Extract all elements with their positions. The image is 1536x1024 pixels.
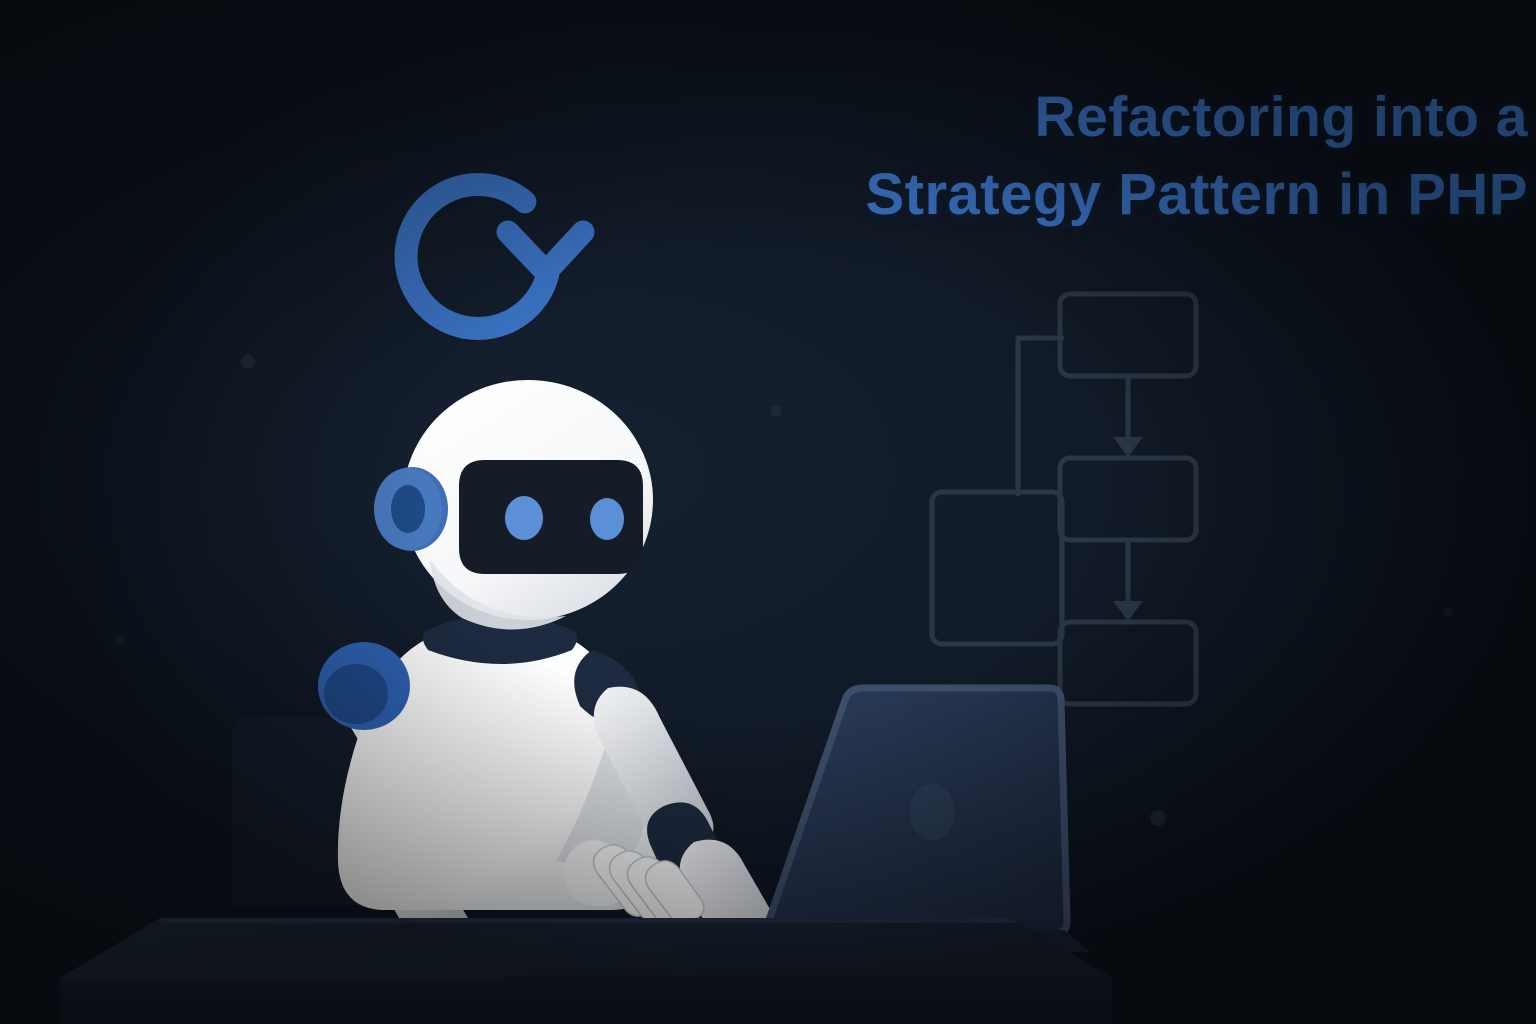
- flowchart-node: [1060, 458, 1196, 540]
- flowchart-side-connector-top: [1018, 338, 1062, 494]
- robot-ear-icon: [374, 467, 448, 551]
- laptop-lid-logo-icon: [910, 784, 954, 840]
- flowchart-arrow-head: [1113, 601, 1143, 621]
- robot-eye-left: [505, 496, 543, 540]
- robot-eye-right: [590, 498, 624, 540]
- desk-top: [60, 918, 1112, 978]
- poster-canvas: Refactoring into a Strategy Pattern in P…: [0, 0, 1536, 1024]
- refresh-icon: [399, 178, 583, 336]
- desk-edge-highlight: [160, 918, 1018, 923]
- flowchart-arrow-head: [1113, 437, 1143, 457]
- desk-front: [60, 978, 1112, 1024]
- desk: [60, 918, 1112, 1024]
- robot: [318, 380, 809, 983]
- page-title: Refactoring into a Strategy Pattern in P…: [700, 78, 1536, 234]
- flowchart-node: [1060, 622, 1196, 704]
- background-flowchart: [932, 294, 1196, 704]
- flowchart-side-box: [932, 492, 1062, 644]
- title-line-1: Refactoring into a: [700, 78, 1528, 156]
- flowchart-node: [1060, 294, 1196, 376]
- laptop: [734, 688, 1090, 952]
- robot-head: [374, 380, 653, 630]
- title-line-2: Strategy Pattern in PHP: [700, 156, 1528, 234]
- robot-shoulder: [318, 642, 410, 730]
